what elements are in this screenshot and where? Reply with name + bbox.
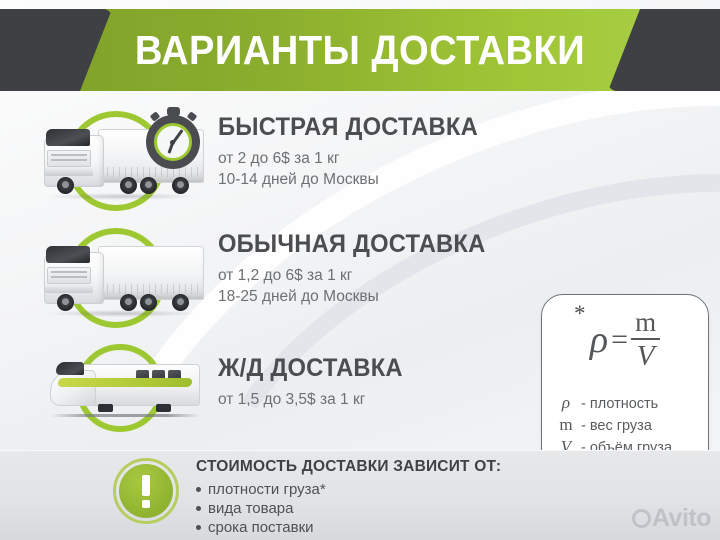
cost-factors-title: СТОИМОСТЬ ДОСТАВКИ ЗАВИСИТ ОТ:	[196, 458, 516, 476]
delivery-option-rail: Ж/Д ДОСТАВКА от 1,5 до 3,5$ за 1 кг	[0, 332, 560, 444]
cost-factor-label: срока поставки	[208, 518, 314, 537]
density-formula: ρ = m V	[542, 309, 708, 371]
watermark-label: Avito	[652, 504, 711, 532]
cost-factors-block: СТОИМОСТЬ ДОСТАВКИ ЗАВИСИТ ОТ: плотности…	[196, 458, 516, 537]
cost-factor-label: плотности груза*	[208, 480, 326, 499]
fast-delivery-price: от 2 до 6$ за 1 кг	[218, 148, 558, 169]
fast-delivery-title: БЫСТРАЯ ДОСТАВКА	[218, 113, 541, 142]
watermark-circle-icon	[632, 509, 651, 528]
legend-label: - плотность	[581, 396, 658, 412]
standard-delivery-price: от 1,2 до 6$ за 1 кг	[218, 265, 558, 286]
legend-row: m - вес груза	[556, 415, 706, 437]
formula-numerator: m	[631, 309, 660, 338]
fast-delivery-text: БЫСТРАЯ ДОСТАВКА от 2 до 6$ за 1 кг 10-1…	[218, 113, 558, 190]
page-title: ВАРИАНТЫ ДОСТАВКИ	[25, 9, 695, 91]
rail-delivery-artwork	[36, 332, 216, 444]
bullet-icon	[196, 506, 201, 511]
stopwatch-icon	[146, 107, 208, 169]
rail-delivery-price: от 1,5 до 3,5$ за 1 кг	[218, 389, 558, 410]
rail-delivery-text: Ж/Д ДОСТАВКА от 1,5 до 3,5$ за 1 кг	[218, 354, 558, 410]
train-icon	[50, 356, 200, 426]
formula-rho-symbol: ρ	[590, 321, 608, 359]
exclamation-icon	[113, 458, 179, 524]
header-banner: ВАРИАНТЫ ДОСТАВКИ	[0, 9, 720, 91]
cost-factor-item: вида товара	[196, 499, 516, 518]
legend-symbol: m	[556, 415, 576, 435]
formula-equals-sign: =	[611, 325, 628, 355]
legend-symbol: ρ	[556, 393, 576, 413]
delivery-option-fast: БЫСТРАЯ ДОСТАВКА от 2 до 6$ за 1 кг 10-1…	[0, 105, 560, 217]
rail-delivery-title: Ж/Д ДОСТАВКА	[218, 354, 541, 383]
cost-factor-item: срока поставки	[196, 518, 516, 537]
truck-icon	[42, 242, 202, 318]
standard-delivery-text: ОБЫЧНАЯ ДОСТАВКА от 1,2 до 6$ за 1 кг 18…	[218, 230, 558, 307]
standard-delivery-title: ОБЫЧНАЯ ДОСТАВКА	[218, 230, 541, 259]
standard-delivery-duration: 18-25 дней до Москвы	[218, 286, 558, 307]
avito-watermark: Avito	[632, 504, 711, 533]
fast-delivery-artwork	[36, 105, 216, 217]
cost-factor-item: плотности груза*	[196, 480, 516, 499]
formula-denominator: V	[633, 340, 659, 371]
legend-row: ρ - плотность	[556, 393, 706, 415]
cost-factor-label: вида товара	[208, 499, 293, 518]
legend-label: - вес груза	[581, 418, 652, 434]
delivery-option-standard: ОБЫЧНАЯ ДОСТАВКА от 1,2 до 6$ за 1 кг 18…	[0, 222, 560, 334]
delivery-options-infographic: ВАРИАНТЫ ДОСТАВКИ	[0, 0, 720, 540]
bullet-icon	[196, 525, 201, 530]
formula-fraction: m V	[631, 309, 660, 371]
fast-delivery-duration: 10-14 дней до Москвы	[218, 169, 558, 190]
bullet-icon	[196, 487, 201, 492]
standard-delivery-artwork	[36, 222, 216, 334]
